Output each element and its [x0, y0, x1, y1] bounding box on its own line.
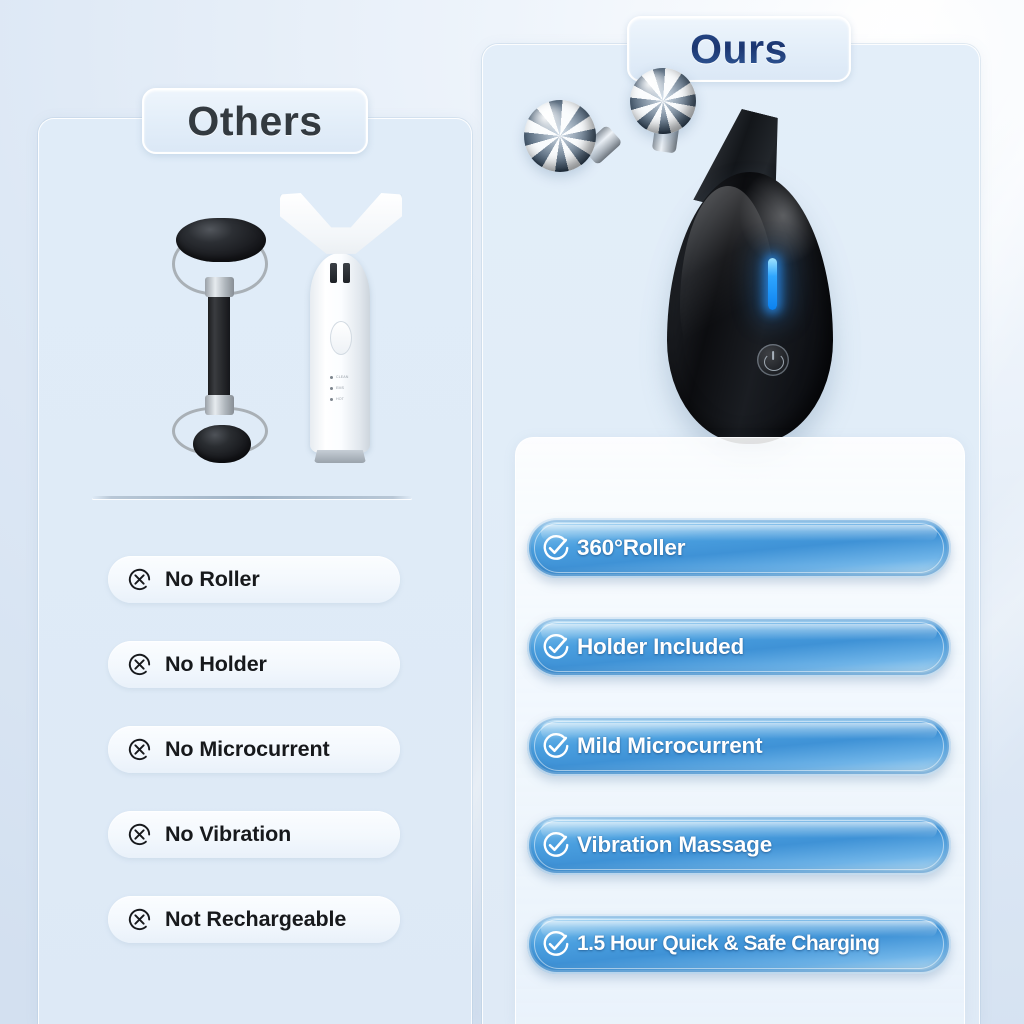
- x-circle-icon: [126, 651, 153, 678]
- device-led-indicator: [768, 258, 777, 310]
- neck-massager-base: [314, 450, 366, 463]
- roller-ball-right: [630, 68, 696, 134]
- others-feature-item: Not Rechargeable: [108, 896, 400, 943]
- mode-label: EMS: [336, 386, 344, 390]
- others-feature-label: Not Rechargeable: [165, 907, 346, 932]
- x-circle-icon: [126, 906, 153, 933]
- check-circle-icon: [541, 929, 571, 959]
- mode-dot: [330, 376, 333, 379]
- ours-feature-item: Vibration Massage: [527, 815, 951, 875]
- neck-massager-slot-right: [343, 263, 350, 283]
- ours-feature-list: 360°Roller Holder Included Mild Microcur…: [527, 518, 951, 1013]
- others-feature-item: No Vibration: [108, 811, 400, 858]
- comparison-infographic: Others CLEAN: [0, 0, 1024, 1024]
- check-circle-icon: [541, 731, 571, 761]
- others-feature-label: No Microcurrent: [165, 737, 330, 762]
- others-feature-item: No Holder: [108, 641, 400, 688]
- others-feature-label: No Roller: [165, 567, 260, 592]
- check-circle-icon: [541, 533, 571, 563]
- roller-collar-top: [205, 277, 234, 297]
- mode-indicator: CLEAN: [330, 375, 364, 379]
- roller-collar-bottom: [205, 395, 234, 415]
- roller-stone-small: [193, 425, 251, 463]
- neck-massager-slot-left: [330, 263, 337, 283]
- x-circle-icon: [126, 566, 153, 593]
- others-title-text: Others: [187, 98, 322, 145]
- ours-feature-item: Holder Included: [527, 617, 951, 677]
- jade-roller-image: [160, 213, 280, 463]
- ours-feature-label: 1.5 Hour Quick & Safe Charging: [577, 932, 879, 956]
- others-feature-label: No Holder: [165, 652, 267, 677]
- ours-feature-label: Mild Microcurrent: [577, 733, 762, 759]
- roller-stone-large: [176, 218, 266, 262]
- mode-dot: [330, 398, 333, 401]
- others-feature-item: No Roller: [108, 556, 400, 603]
- check-circle-icon: [541, 632, 571, 662]
- others-product-images: CLEAN EMS HOT: [38, 185, 472, 480]
- mode-label: HOT: [336, 397, 344, 401]
- others-feature-list: No Roller No Holder No Microcurrent: [108, 556, 400, 981]
- others-feature-label: No Vibration: [165, 822, 291, 847]
- roller-ball-left: [524, 100, 596, 172]
- others-title-badge: Others: [142, 88, 368, 154]
- ours-feature-label: 360°Roller: [577, 535, 685, 561]
- ours-feature-item: 360°Roller: [527, 518, 951, 578]
- x-circle-icon: [126, 821, 153, 848]
- roller-shaft: [208, 285, 230, 403]
- neck-massager-image: CLEAN EMS HOT: [280, 193, 402, 463]
- ours-feature-item: Mild Microcurrent: [527, 716, 951, 776]
- x-circle-icon: [126, 736, 153, 763]
- ours-feature-label: Holder Included: [577, 634, 744, 660]
- mode-label: CLEAN: [336, 375, 348, 379]
- device-power-button[interactable]: [757, 344, 789, 376]
- ours-feature-label: Vibration Massage: [577, 832, 772, 858]
- neck-massager-mode-indicators: CLEAN EMS HOT: [330, 375, 364, 408]
- mode-indicator: HOT: [330, 397, 364, 401]
- mode-dot: [330, 387, 333, 390]
- ours-product-image: [482, 62, 980, 452]
- neck-massager-power-button: [330, 321, 352, 355]
- check-circle-icon: [541, 830, 571, 860]
- others-feature-item: No Microcurrent: [108, 726, 400, 773]
- mode-indicator: EMS: [330, 386, 364, 390]
- others-divider: [92, 496, 412, 499]
- ours-feature-item: 1.5 Hour Quick & Safe Charging: [527, 914, 951, 974]
